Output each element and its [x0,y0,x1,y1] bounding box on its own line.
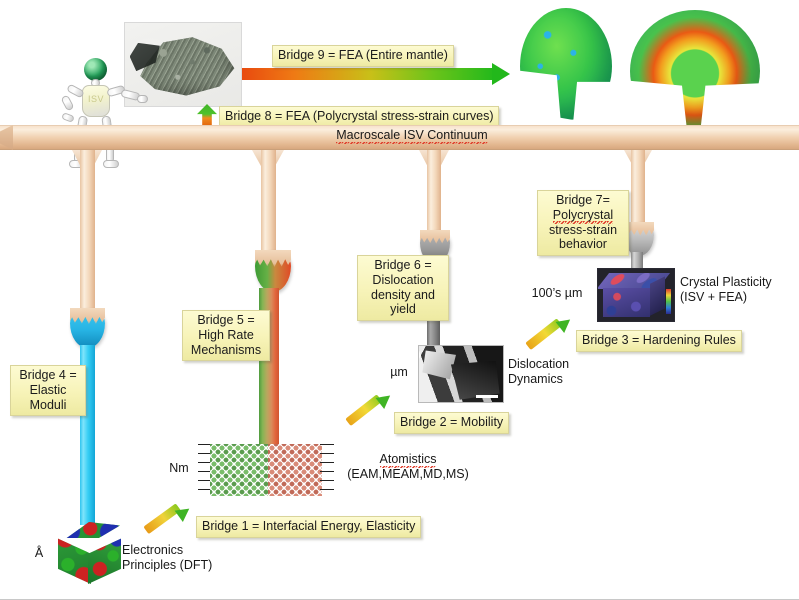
crystal-plasticity-cube [597,268,675,322]
atomistics-line-1: Atomistics [380,452,437,468]
mantle-fea-left-image [520,8,612,120]
bridge-1-label: Bridge 1 = Interfacial Energy, Elasticit… [196,516,421,538]
pillar-4-shaft-tan [631,150,645,228]
pillar-3-crack [420,230,450,246]
dft-cube-left-face [58,530,91,584]
mantle-fea-right-image [630,10,760,132]
cp-color-legend [666,289,671,314]
dft-method-label: Electronics Principles (DFT) [122,543,212,573]
pillar-1-crack [70,308,105,326]
dft-cube-right-face [88,530,121,584]
robot-left-forearm [60,95,74,112]
dft-line-1: Electronics [122,543,183,557]
bridge-6-line-1: Bridge 6 = [374,258,431,272]
cp-cube-front-face [603,288,650,317]
bridge-5-line-2: High Rate [198,328,254,342]
atomistics-green-grain [210,444,268,496]
bridge-3-arrow [528,320,576,354]
hundreds-micron-scale-label: 100’s µm [522,286,592,301]
bridge-1-arrow-shaft [143,503,181,534]
pillar-3-shaft-tan [427,150,441,232]
dft-line-2: Principles (DFT) [122,558,212,572]
robot-head [84,58,107,81]
dft-cube-top-face [58,522,120,538]
micrograph-scale-bar [476,395,498,398]
bridge-3-label: Bridge 3 = Hardening Rules [576,330,742,352]
cp-line-2: (ISV + FEA) [680,290,747,304]
dft-electron-density-cube [58,522,120,584]
multiscale-bridging-diagram: Bridge 9 = FEA (Entire mantle) ISV Bridg… [0,0,799,600]
cp-line-1: Crystal Plasticity [680,275,772,289]
pillar-1-fracture-node [70,308,105,348]
atomistics-red-grain [268,444,322,496]
crystal-plasticity-label: Crystal Plasticity (ISV + FEA) [680,275,772,305]
robot-right-foot [103,160,119,168]
bridge-4-line-3: Moduli [30,398,67,412]
bridge-8-arrow-body [197,104,217,126]
robot-torso: ISV [82,85,110,117]
bridge-9-label: Bridge 9 = FEA (Entire mantle) [272,45,454,67]
cp-cube-side-face [650,277,665,317]
bridge-4-line-2: Elastic [30,383,67,397]
bridge-8-up-arrow [197,104,217,126]
bridge-7-line-4: behavior [559,237,607,251]
robot-right-hand [137,95,148,103]
robot-left-hand [61,112,75,123]
pillar-2-shaft-tan [261,150,276,252]
atomistics-line-2: (EAM,MEAM,MD,MS) [347,467,469,481]
dd-line-1: Dislocation [508,357,569,371]
dislocation-dynamics-micrograph [418,345,504,403]
micron-scale-label: µm [386,365,412,380]
bridge-7-line-1: Bridge 7= [556,193,610,207]
bridge-9-arrow-shaft [238,68,494,80]
bridge-1-arrow [146,508,194,540]
bridge-3-arrow-head [556,314,575,333]
bridge-6-label: Bridge 6 = Dislocation density and yield [357,255,449,321]
dislocation-dynamics-label: Dislocation Dynamics [508,357,569,387]
bridge-7-line-3: stress-strain [549,223,617,237]
bridge-2-arrow [348,396,396,430]
bridge-2-label: Bridge 2 = Mobility [394,412,509,434]
bridge-9-arrow-head [492,63,510,85]
bridge-4-line-1: Bridge 4 = [19,368,76,382]
bridge-5-line-1: Bridge 5 = [197,313,254,327]
atomistics-method-label: Atomistics (EAM,MEAM,MD,MS) [338,452,478,482]
bridge-7-line-2: Polycrystal [553,208,613,224]
bridge-6-line-3: density and [371,288,435,302]
pillar-2-fracture-node [255,250,291,292]
macroscale-beam-label: Macroscale ISV Continuum [322,128,502,143]
bridge-6-line-2: Dislocation [372,273,433,287]
bridge-6-line-4: yield [390,302,416,316]
atomistics-bicrystal-image [198,444,334,496]
pillar-1-shaft-tan [80,150,95,312]
nm-scale-label: Nm [166,461,192,476]
bridge-5-label: Bridge 5 = High Rate Mechanisms [182,310,270,361]
angstrom-scale-label: Å [30,546,48,561]
bridge-5-line-3: Mechanisms [191,343,261,357]
pillar-2-crack [255,250,291,269]
robot-chest-label: ISV [83,94,109,104]
bridge-7-label: Bridge 7= Polycrystal stress-strain beha… [537,190,629,256]
bridge-4-label: Bridge 4 = Elastic Moduli [10,365,86,416]
bridge-2-arrow-head [376,390,395,409]
atomistics-right-ticks [320,444,334,496]
micrograph-light-grain [422,350,456,381]
dd-line-2: Dynamics [508,372,563,386]
